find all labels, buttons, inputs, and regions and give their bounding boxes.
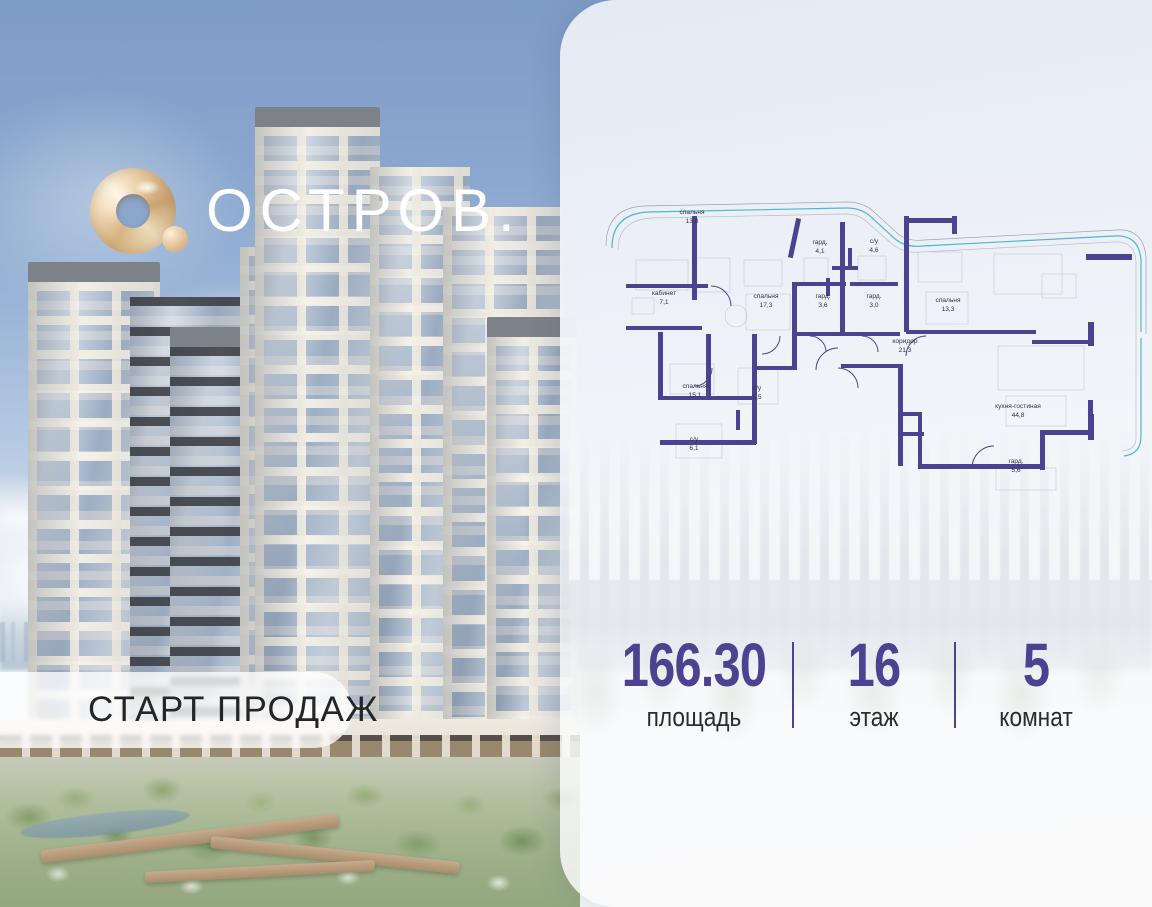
room-area: 3,0 [869, 302, 878, 309]
room-name: кухня-гостиная [995, 403, 1041, 410]
stat-floor-label: этаж [807, 702, 941, 733]
sphere-dot-icon [162, 226, 188, 252]
stat-area-value: 166.30 [616, 636, 773, 696]
stat-rooms: 5 комнат [956, 636, 1116, 733]
brand-name: ОСТРОВ. [206, 181, 522, 241]
stat-rooms-value: 5 [972, 636, 1100, 696]
room-area: 13,8 [686, 218, 699, 225]
room-area: 5,5 [752, 394, 761, 401]
room-name: коридор [892, 338, 917, 345]
promo-card: ОСТРОВ. СТАРТ ПРОДАЖ [0, 0, 1152, 907]
room-name: гард. [1008, 458, 1023, 465]
room-area: 6,1 [689, 445, 698, 452]
room-area: 3,6 [818, 302, 827, 309]
room-area: 17,3 [760, 302, 773, 309]
stat-area: 166.30 площадь [596, 636, 792, 733]
room-area: 44,8 [1012, 412, 1025, 419]
sale-status-banner: СТАРТ ПРОДАЖ [0, 672, 352, 748]
room-area: 21,3 [899, 347, 912, 354]
room-name: спальня [935, 297, 960, 304]
room-name: спальня [753, 293, 778, 300]
room-name: спальня [679, 209, 704, 216]
room-name: кабинет [652, 289, 676, 297]
apartment-stats: 166.30 площадь 16 этаж 5 комнат [596, 636, 1112, 748]
room-name: с/у [753, 385, 762, 392]
room-name: гард. [866, 293, 881, 300]
room-name: с/у [870, 238, 879, 245]
stat-area-label: площадь [612, 702, 777, 733]
room-name: гард. [812, 239, 827, 246]
room-name: спальня [682, 383, 707, 390]
floor-plan[interactable]: спальня13,8кабинет7,1спальня17,3гард.4,1… [596, 186, 1152, 506]
room-area: 15,1 [689, 392, 702, 399]
room-area: 4,6 [869, 247, 878, 254]
room-name: гард. [815, 293, 830, 300]
sale-status-label: СТАРТ ПРОДАЖ [88, 690, 379, 730]
room-area: 4,1 [815, 248, 824, 255]
room-area: 13,3 [942, 306, 955, 313]
stat-floor-value: 16 [810, 636, 938, 696]
stat-floor: 16 этаж [794, 636, 954, 733]
room-area: 5,6 [1011, 467, 1020, 474]
room-name: с/у [690, 436, 699, 443]
stat-rooms-label: комнат [969, 702, 1103, 733]
torus-ring-icon [90, 168, 176, 254]
room-area: 7,1 [659, 299, 668, 306]
brand-logo[interactable]: ОСТРОВ. [90, 168, 522, 254]
